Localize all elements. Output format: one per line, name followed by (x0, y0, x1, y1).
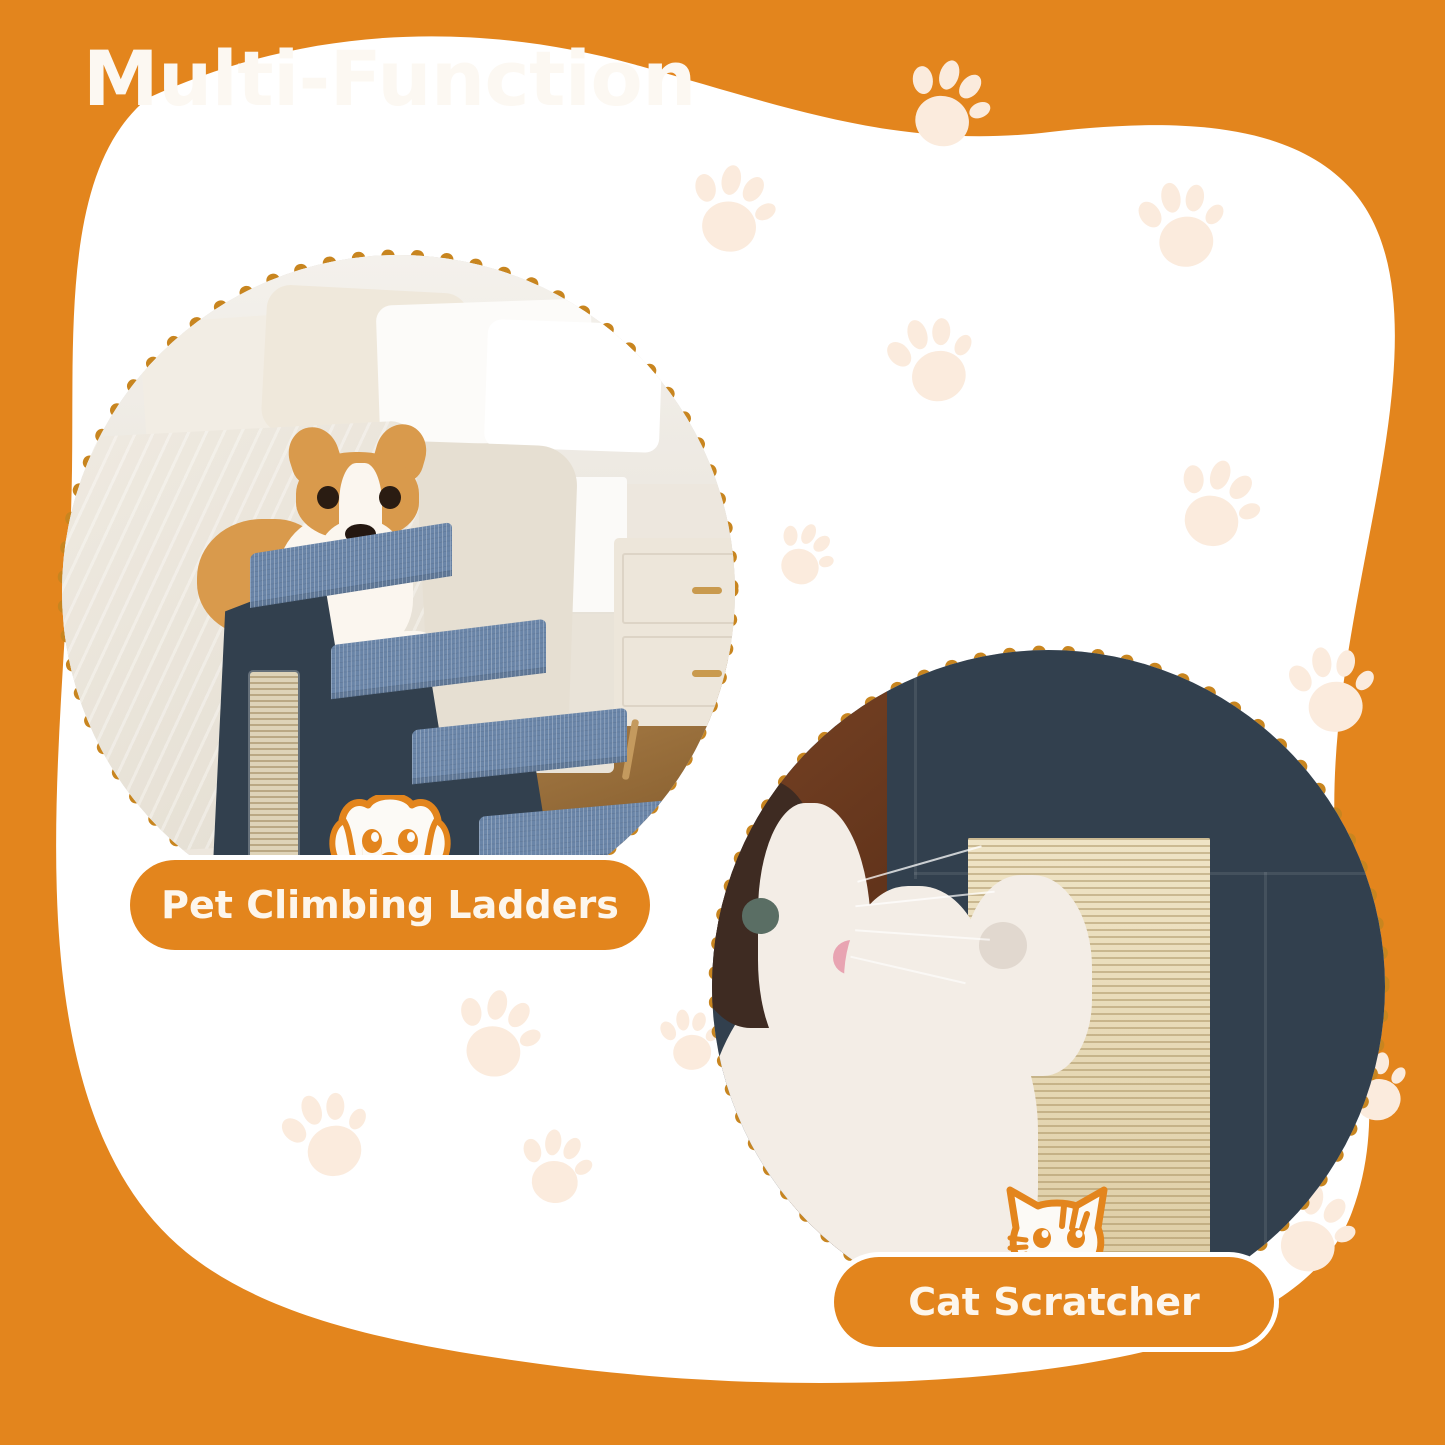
feature-card-pet-climbing-ladders: Pet Climbing Ladders (42, 230, 762, 950)
label-text: Pet Climbing Ladders (161, 883, 619, 927)
feature-card-cat-scratcher: Cat Scratcher (692, 627, 1422, 1357)
page-title: Multi-Function (83, 34, 696, 123)
label-pill-cat-scratcher[interactable]: Cat Scratcher (834, 1257, 1274, 1347)
label-pill-pet-climbing-ladders[interactable]: Pet Climbing Ladders (130, 860, 650, 950)
label-text: Cat Scratcher (908, 1280, 1199, 1324)
infographic-canvas: Multi-Function (0, 0, 1445, 1445)
